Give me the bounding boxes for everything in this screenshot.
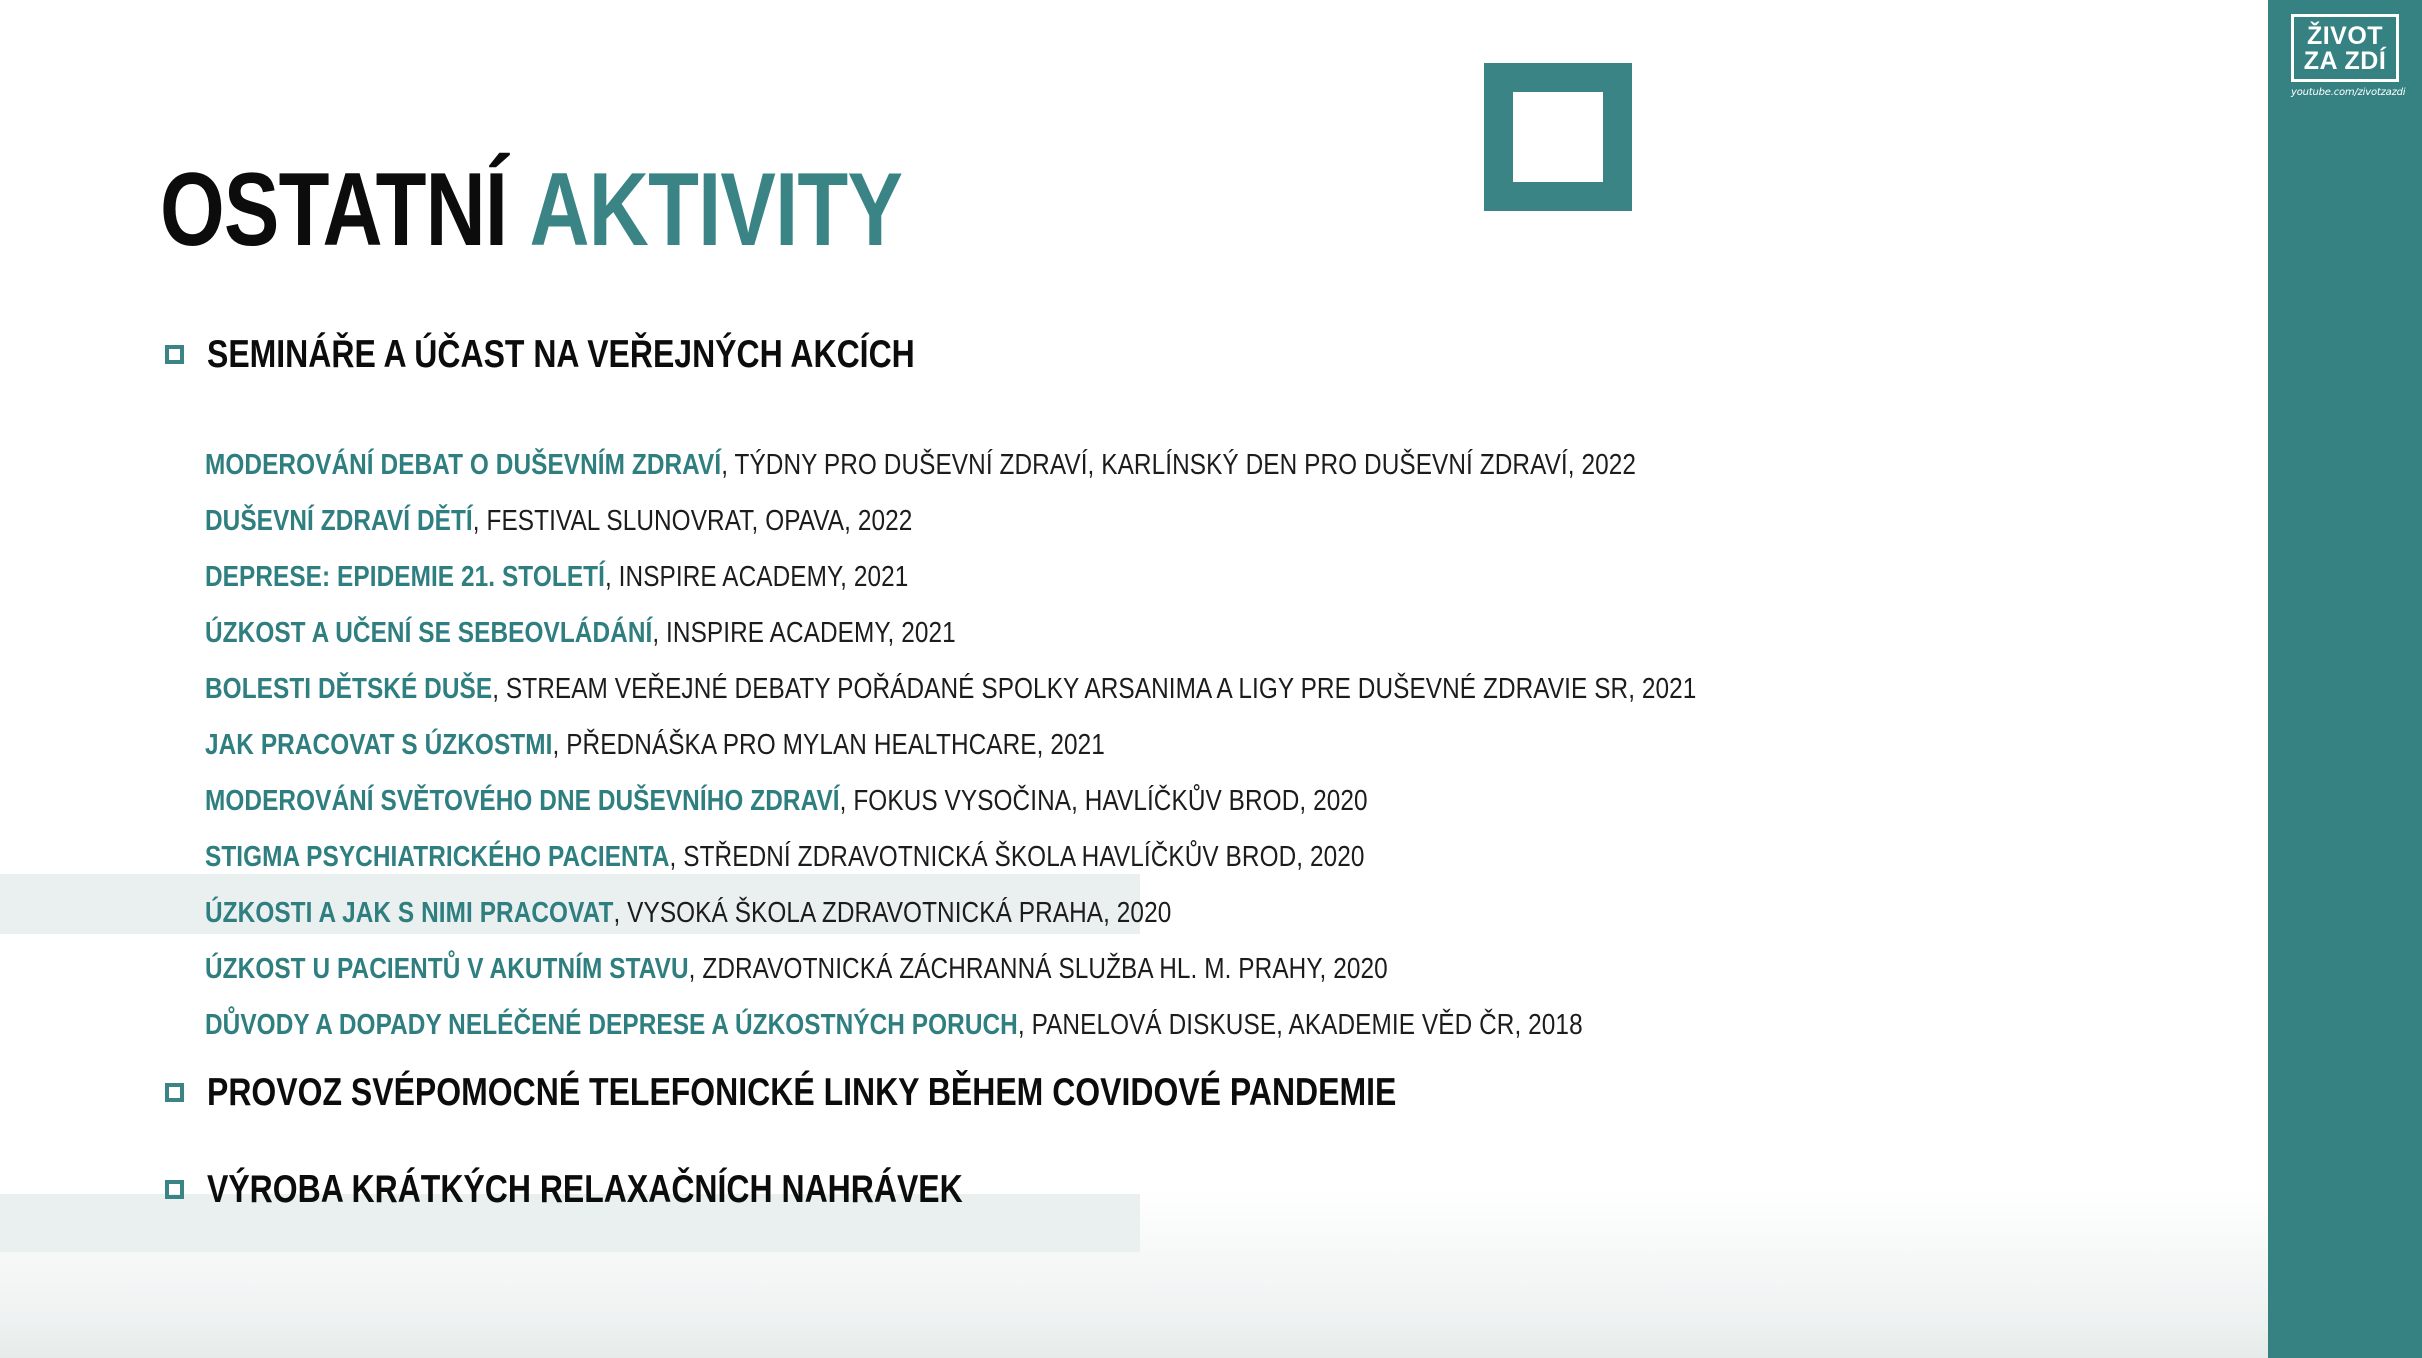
- entry-lead: DEPRESE: EPIDEMIE 21. STOLETÍ: [205, 561, 605, 593]
- list-item: ÚZKOSTI A JAK S NIMI PRACOVAT, VYSOKÁ ŠK…: [205, 885, 2255, 941]
- section-heading-label: SEMINÁŘE A ÚČAST NA VEŘEJNÝCH AKCÍCH: [207, 335, 915, 374]
- logo-youtube-url: youtube.com/zivotzazdi: [2291, 87, 2399, 98]
- entry-lead: ÚZKOSTI A JAK S NIMI PRACOVAT: [205, 897, 613, 929]
- entry-rest: , INSPIRE ACADEMY, 2021: [652, 617, 955, 649]
- entry-rest: , FESTIVAL SLUNOVRAT, OPAVA, 2022: [473, 505, 913, 537]
- entry-lead: DUŠEVNÍ ZDRAVÍ DĚTÍ: [205, 505, 473, 537]
- right-sidebar: ŽIVOT ZA ZDÍ youtube.com/zivotzazdi: [2268, 0, 2422, 1358]
- list-item: JAK PRACOVAT S ÚZKOSTMI, PŘEDNÁŠKA PRO M…: [205, 717, 2255, 773]
- entry-rest: , VYSOKÁ ŠKOLA ZDRAVOTNICKÁ PRAHA, 2020: [613, 897, 1171, 929]
- section-heading-recordings: VÝROBA KRÁTKÝCH RELAXAČNÍCH NAHRÁVEK: [165, 1170, 1129, 1209]
- logo-line-2: ZA ZDÍ: [2300, 49, 2390, 74]
- slide-canvas: ŽIVOT ZA ZDÍ youtube.com/zivotzazdi OSTA…: [0, 0, 2422, 1358]
- section-heading-seminars: SEMINÁŘE A ÚČAST NA VEŘEJNÝCH AKCÍCH: [165, 335, 1070, 374]
- square-bullet-icon: [165, 1083, 184, 1102]
- entry-rest: , INSPIRE ACADEMY, 2021: [605, 561, 908, 593]
- entry-rest: , STREAM VEŘEJNÉ DEBATY POŘÁDANÉ SPOLKY …: [492, 673, 1696, 705]
- list-item: MODEROVÁNÍ SVĚTOVÉHO DNE DUŠEVNÍHO ZDRAV…: [205, 773, 2255, 829]
- logo-line-1: ŽIVOT: [2300, 24, 2390, 49]
- list-item: STIGMA PSYCHIATRICKÉHO PACIENTA, STŘEDNÍ…: [205, 829, 2255, 885]
- entry-lead: ÚZKOST A UČENÍ SE SEBEOVLÁDÁNÍ: [205, 617, 652, 649]
- list-item: ÚZKOST U PACIENTŮ V AKUTNÍM STAVU, ZDRAV…: [205, 941, 2255, 997]
- section-heading-label: PROVOZ SVÉPOMOCNÉ TELEFONICKÉ LINKY BĚHE…: [207, 1073, 1396, 1112]
- entry-rest: , ZDRAVOTNICKÁ ZÁCHRANNÁ SLUŽBA HL. M. P…: [689, 953, 1388, 985]
- square-bullet-icon: [165, 1180, 184, 1199]
- square-bullet-icon: [165, 345, 184, 364]
- list-item: MODEROVÁNÍ DEBAT O DUŠEVNÍM ZDRAVÍ, TÝDN…: [205, 437, 2255, 493]
- entry-lead: DŮVODY A DOPADY NELÉČENÉ DEPRESE A ÚZKOS…: [205, 1009, 1018, 1041]
- seminar-entry-list: MODEROVÁNÍ DEBAT O DUŠEVNÍM ZDRAVÍ, TÝDN…: [205, 437, 2255, 1053]
- list-item: DUŠEVNÍ ZDRAVÍ DĚTÍ, FESTIVAL SLUNOVRAT,…: [205, 493, 2255, 549]
- section-heading-helpline: PROVOZ SVÉPOMOCNÉ TELEFONICKÉ LINKY BĚHE…: [165, 1073, 1657, 1112]
- entry-rest: , PŘEDNÁŠKA PRO MYLAN HEALTHCARE, 2021: [552, 729, 1104, 761]
- section-heading-label: VÝROBA KRÁTKÝCH RELAXAČNÍCH NAHRÁVEK: [207, 1170, 963, 1209]
- entry-lead: JAK PRACOVAT S ÚZKOSTMI: [205, 729, 552, 761]
- list-item: ÚZKOST A UČENÍ SE SEBEOVLÁDÁNÍ, INSPIRE …: [205, 605, 2255, 661]
- entry-lead: ÚZKOST U PACIENTŮ V AKUTNÍM STAVU: [205, 953, 689, 985]
- slide-content: SEMINÁŘE A ÚČAST NA VEŘEJNÝCH AKCÍCH MOD…: [0, 0, 2268, 1358]
- entry-rest: , TÝDNY PRO DUŠEVNÍ ZDRAVÍ, KARLÍNSKÝ DE…: [721, 449, 1636, 481]
- entry-rest: , PANELOVÁ DISKUSE, AKADEMIE VĚD ČR, 201…: [1018, 1009, 1583, 1041]
- logo-box: ŽIVOT ZA ZDÍ: [2291, 14, 2399, 82]
- list-item: DŮVODY A DOPADY NELÉČENÉ DEPRESE A ÚZKOS…: [205, 997, 2255, 1053]
- logo: ŽIVOT ZA ZDÍ youtube.com/zivotzazdi: [2291, 14, 2399, 98]
- list-item: DEPRESE: EPIDEMIE 21. STOLETÍ, INSPIRE A…: [205, 549, 2255, 605]
- entry-lead: STIGMA PSYCHIATRICKÉHO PACIENTA: [205, 841, 670, 873]
- entry-lead: BOLESTI DĚTSKÉ DUŠE: [205, 673, 492, 705]
- list-item: BOLESTI DĚTSKÉ DUŠE, STREAM VEŘEJNÉ DEBA…: [205, 661, 2255, 717]
- entry-lead: MODEROVÁNÍ DEBAT O DUŠEVNÍM ZDRAVÍ: [205, 449, 721, 481]
- entry-rest: , FOKUS VYSOČINA, HAVLÍČKŮV BROD, 2020: [840, 785, 1368, 817]
- entry-lead: MODEROVÁNÍ SVĚTOVÉHO DNE DUŠEVNÍHO ZDRAV…: [205, 785, 840, 817]
- entry-rest: , STŘEDNÍ ZDRAVOTNICKÁ ŠKOLA HAVLÍČKŮV B…: [670, 841, 1365, 873]
